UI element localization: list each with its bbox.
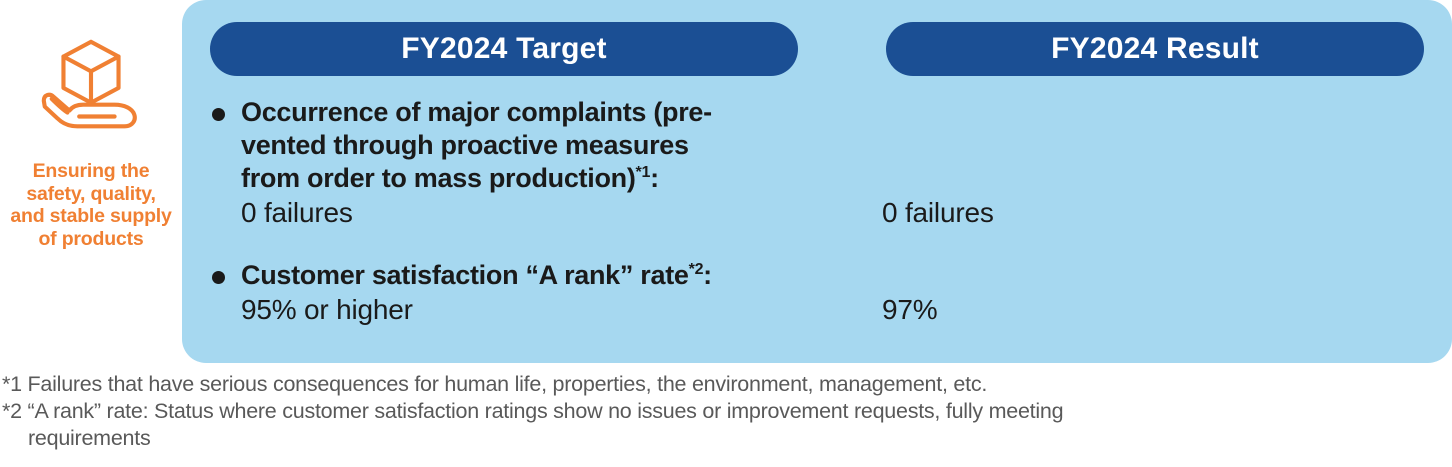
- footnote-line: *1 Failures that have serious consequenc…: [2, 371, 1452, 398]
- icon-caption: Ensuring the safety, quality, and stable…: [2, 160, 180, 250]
- metric-target-value: 95% or higher: [241, 294, 413, 326]
- targets-results-panel: FY2024 Target FY2024 Result Occurrence o…: [182, 0, 1452, 363]
- column-header-fy2024-result: FY2024 Result: [886, 22, 1424, 76]
- metric-values-row: 95% or higher 97%: [182, 294, 1452, 334]
- metric-values-row: 0 failures 0 failures: [182, 197, 1452, 237]
- footnote-line: requirements: [2, 425, 1452, 452]
- bullet-dot-icon: [212, 108, 225, 121]
- icon-caption-line: Ensuring the: [2, 160, 180, 183]
- column-header-fy2024-target: FY2024 Target: [210, 22, 798, 76]
- icon-column: Ensuring the safety, quality, and stable…: [0, 0, 182, 363]
- metric-label: Customer satisfaction “A rank” rate*2:: [182, 259, 860, 292]
- metric-label: Occurrence of major complaints (pre- ven…: [182, 96, 860, 195]
- hand-holding-box-icon: [32, 28, 150, 146]
- footnote-line: *2 “A rank” rate: Status where customer …: [2, 398, 1452, 425]
- metric-result-value: 97%: [882, 294, 937, 326]
- icon-caption-line: and stable supply: [2, 205, 180, 228]
- metric-label-colon: :: [650, 163, 659, 193]
- metric-label-line: Occurrence of major complaints (pre-: [241, 97, 712, 127]
- icon-caption-line: safety, quality,: [2, 183, 180, 206]
- footnote-marker: *2: [689, 261, 704, 278]
- column-header-row: FY2024 Target FY2024 Result: [182, 22, 1452, 76]
- bullet-dot-icon: [212, 271, 225, 284]
- metric-label-line: vented through proactive measures: [241, 130, 689, 160]
- metric-row: Customer satisfaction “A rank” rate*2: 9…: [182, 259, 1452, 334]
- metric-label-colon: :: [703, 260, 712, 290]
- footnotes: *1 Failures that have serious consequenc…: [2, 371, 1452, 452]
- metric-row: Occurrence of major complaints (pre- ven…: [182, 96, 1452, 237]
- metric-target-value: 0 failures: [241, 197, 353, 229]
- metric-label-line: Customer satisfaction “A rank” rate: [241, 260, 689, 290]
- metric-result-value: 0 failures: [882, 197, 994, 229]
- icon-caption-line: of products: [2, 228, 180, 251]
- metric-label-line: from order to mass production): [241, 163, 636, 193]
- metrics-list: Occurrence of major complaints (pre- ven…: [182, 96, 1452, 334]
- footnote-marker: *1: [636, 164, 651, 181]
